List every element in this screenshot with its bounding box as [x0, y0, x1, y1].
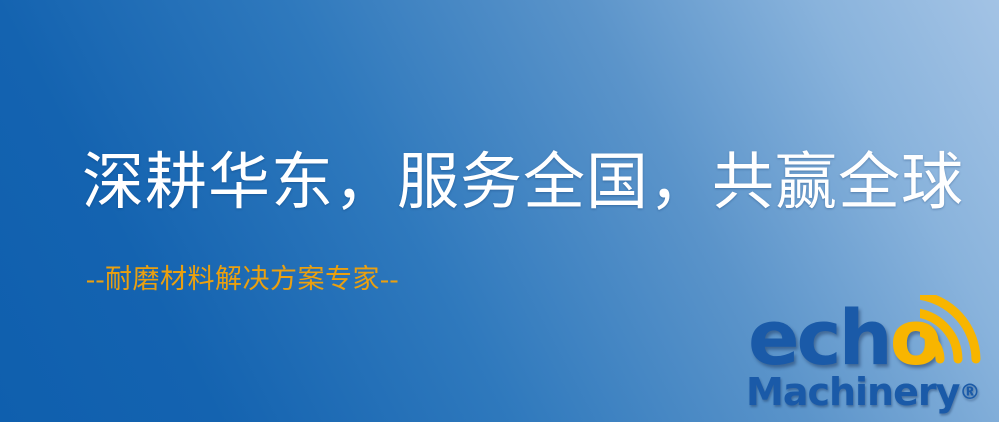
banner-headline: 深耕华东，服务全国，共赢全球	[82, 152, 964, 214]
registered-trademark-icon: ®	[959, 380, 980, 404]
logo-wordmark-prefix: ech	[748, 293, 890, 382]
banner-subtitle: --耐磨材料解决方案专家--	[86, 266, 399, 293]
company-logo: echo Machinery®	[744, 300, 999, 422]
logo-wordmark: echo	[748, 300, 939, 376]
logo-tagline: Machinery®	[746, 373, 980, 411]
logo-tagline-text: Machinery	[746, 370, 959, 414]
signal-waves-icon	[920, 295, 999, 367]
hero-banner: 深耕华东，服务全国，共赢全球 --耐磨材料解决方案专家-- echo Machi…	[0, 0, 999, 422]
